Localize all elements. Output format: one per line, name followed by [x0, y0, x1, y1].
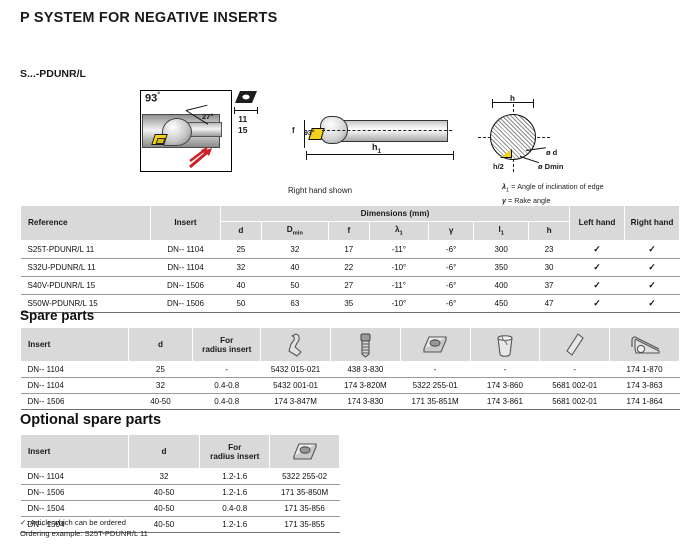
cell-shim: - — [400, 362, 470, 378]
header-dim-lambda: λ1 — [369, 222, 428, 241]
cell-part: 5322 255-02 — [270, 469, 340, 485]
clamp-icon — [261, 328, 331, 362]
cell-insert: DN-- 1506 — [151, 276, 221, 294]
cell-lambda: -11° — [369, 276, 428, 294]
f-dimension-label: f — [292, 126, 295, 135]
cell-f: 17 — [328, 240, 369, 258]
header-dimensions: Dimensions (mm) — [221, 206, 570, 222]
footnote-orderable: ✓: Article which can be ordered — [20, 517, 148, 528]
cell-lambda: -10° — [369, 294, 428, 312]
pin-icon — [540, 328, 610, 362]
feed-direction-arrow-icon — [188, 146, 218, 170]
cell-clamp: 5432 001-01 — [261, 378, 331, 394]
catalog-page: P SYSTEM FOR NEGATIVE INSERTS S...-PDUNR… — [0, 0, 700, 557]
header-for-radius-insert: For radius insert — [193, 328, 261, 362]
footnotes: ✓: Article which can be ordered Ordering… — [20, 517, 148, 539]
secondary-angle-label: 27° — [202, 112, 213, 121]
cell-insert: DN-- 1104 — [21, 362, 129, 378]
cell-radius: 1.2-1.6 — [200, 485, 270, 501]
cell-right-hand-check: ✓ — [625, 294, 680, 312]
cell-lambda: -10° — [369, 258, 428, 276]
table-row[interactable]: DN-- 1504 40-50 0.4-0.8 171 35-856 — [21, 501, 340, 517]
table-row[interactable]: DN-- 1506 40-50 0.4-0.8 174 3-847M 174 3… — [21, 394, 680, 410]
bar-angle-label: 93° — [304, 130, 315, 137]
cell-screw: 174 3-820M — [330, 378, 400, 394]
header-insert: Insert — [21, 435, 129, 469]
tool-head-shape — [162, 118, 192, 146]
insert-size-labels: 11 15 — [238, 114, 247, 136]
bar-section-circle — [490, 114, 536, 160]
header-dim-f: f — [328, 222, 369, 241]
cell-insert: DN-- 1104 — [151, 258, 221, 276]
cell-pin: 5681 002-01 — [540, 394, 610, 410]
cell-radius: - — [193, 362, 261, 378]
cell-dmin: 32 — [261, 240, 328, 258]
cell-insert: DN-- 1506 — [21, 394, 129, 410]
cell-d: 25 — [221, 240, 262, 258]
cell-h: 37 — [529, 276, 570, 294]
cell-gamma: -6° — [429, 276, 474, 294]
header-insert: Insert — [21, 328, 129, 362]
cell-shim: 5322 255-01 — [400, 378, 470, 394]
bar-cross-section-diagram: h h/2 ø d ø Dmin — [460, 94, 580, 180]
shim-icon — [270, 435, 340, 469]
table-row[interactable]: S32U-PDUNR/L 11 DN-- 1104 32 40 22 -10° … — [21, 258, 680, 276]
cell-h: 30 — [529, 258, 570, 276]
cell-reference: S25T-PDUNR/L 11 — [21, 240, 151, 258]
cell-radius: 1.2-1.6 — [200, 517, 270, 533]
footnote-ordering-example: Ordering example: S25T-PDUNR/L 11 — [20, 528, 148, 539]
table-row[interactable]: DN-- 1104 32 0.4-0.8 5432 001-01 174 3-8… — [21, 378, 680, 394]
cell-wrench: 174 1-864 — [610, 394, 680, 410]
symbol-legend: λ1 = Angle of inclination of edge γ = Ra… — [502, 182, 604, 205]
cell-wrench: 174 1-870 — [610, 362, 680, 378]
center-axis-line — [322, 130, 452, 131]
dimensions-table: Reference Insert Dimensions (mm) Left ha… — [20, 205, 680, 313]
seat-icon — [470, 328, 540, 362]
cell-insert: DN-- 1104 — [21, 378, 129, 394]
boring-bar-side-view-diagram: f 93° h1 — [292, 102, 462, 180]
tool-geometry-diagram: 93° 27° — [132, 88, 242, 176]
legend-item-gamma: γ = Rake angle — [502, 196, 604, 206]
cell-part: 171 35-850M — [270, 485, 340, 501]
cell-d: 40-50 — [128, 485, 200, 501]
cell-insert: DN-- 1506 — [21, 485, 129, 501]
cell-l1: 450 — [474, 294, 529, 312]
cell-d: 25 — [128, 362, 193, 378]
header-insert: Insert — [151, 206, 221, 241]
table-row[interactable]: S40V-PDUNR/L 15 DN-- 1506 40 50 27 -11° … — [21, 276, 680, 294]
cell-f: 22 — [328, 258, 369, 276]
length-dimension-label: h1 — [372, 142, 381, 155]
table-row[interactable]: DN-- 1506 40-50 1.2-1.6 171 35-850M — [21, 485, 340, 501]
cell-d: 50 — [221, 294, 262, 312]
cell-dmin: 40 — [261, 258, 328, 276]
lambda-text: = Angle of inclination of edge — [511, 182, 604, 191]
cell-d: 40-50 — [128, 394, 193, 410]
cell-h: 23 — [529, 240, 570, 258]
cell-left-hand-check: ✓ — [570, 294, 625, 312]
cell-l1: 350 — [474, 258, 529, 276]
table-row[interactable]: S50W-PDUNR/L 15 DN-- 1506 50 63 35 -10° … — [21, 294, 680, 312]
optional-header-row: Insert d For radius insert — [21, 435, 340, 469]
lambda-sub: 1 — [506, 187, 509, 193]
diameter-d-label: ø d — [546, 148, 557, 157]
cell-insert: DN-- 1506 — [151, 294, 221, 312]
cell-dmin: 50 — [261, 276, 328, 294]
cell-right-hand-check: ✓ — [625, 258, 680, 276]
page-title: P SYSTEM FOR NEGATIVE INSERTS — [20, 10, 277, 26]
cell-pin: - — [540, 362, 610, 378]
cell-d: 40 — [221, 276, 262, 294]
header-dim-dmin: Dmin — [261, 222, 328, 241]
cell-h: 47 — [529, 294, 570, 312]
cell-wrench: 174 3-863 — [610, 378, 680, 394]
insert-icon — [234, 90, 258, 104]
cell-shim: 171 35-851M — [400, 394, 470, 410]
header-for-radius-insert: For radius insert — [200, 435, 270, 469]
table-header-row-top: Reference Insert Dimensions (mm) Left ha… — [21, 206, 680, 222]
diagram-caption: Right hand shown — [288, 186, 352, 195]
header-dim-l1: l1 — [474, 222, 529, 241]
insert-size-indicator: 11 15 — [228, 90, 268, 150]
h-half-label: h/2 — [493, 162, 504, 171]
header-reference: Reference — [21, 206, 151, 241]
gamma-symbol: γ — [502, 196, 506, 205]
header-dim-d: d — [221, 222, 262, 241]
cell-insert: DN-- 1504 — [21, 501, 129, 517]
cell-clamp: 174 3-847M — [261, 394, 331, 410]
spare-parts-title: Spare parts — [20, 308, 94, 323]
cell-dmin: 63 — [261, 294, 328, 312]
h-dimension-label: h — [510, 94, 515, 103]
cell-left-hand-check: ✓ — [570, 240, 625, 258]
cell-insert: DN-- 1104 — [151, 240, 221, 258]
cell-radius: 0.4-0.8 — [193, 394, 261, 410]
table-row[interactable]: DN-- 1104 32 1.2-1.6 5322 255-02 — [21, 469, 340, 485]
header-left-hand: Left hand — [570, 206, 625, 241]
spare-header-row: Insert d For radius insert — [21, 328, 680, 362]
optional-spare-parts-title: Optional spare parts — [20, 412, 161, 428]
table-row[interactable]: DN-- 1104 25 - 5432 015-021 438 3-830 - … — [21, 362, 680, 378]
cell-l1: 400 — [474, 276, 529, 294]
cell-d: 32 — [128, 378, 193, 394]
table-row[interactable]: S25T-PDUNR/L 11 DN-- 1104 25 32 17 -11° … — [21, 240, 680, 258]
insert-number-top: 11 — [238, 114, 247, 125]
diameter-dmin-label: ø Dmin — [538, 162, 563, 171]
cell-pin: 5681 002-01 — [540, 378, 610, 394]
cell-radius: 1.2-1.6 — [200, 469, 270, 485]
cell-l1: 300 — [474, 240, 529, 258]
cell-radius: 0.4-0.8 — [200, 501, 270, 517]
wrench-icon — [610, 328, 680, 362]
cell-seat: 174 3-860 — [470, 378, 540, 394]
main-angle-label: 93° — [145, 92, 160, 105]
cell-gamma: -6° — [429, 258, 474, 276]
cell-d: 32 — [128, 469, 200, 485]
cell-lambda: -11° — [369, 240, 428, 258]
insert-number-bottom: 15 — [238, 125, 247, 136]
cell-right-hand-check: ✓ — [625, 276, 680, 294]
cell-f: 27 — [328, 276, 369, 294]
cell-f: 35 — [328, 294, 369, 312]
cell-seat: 174 3-861 — [470, 394, 540, 410]
cell-part: 171 35-856 — [270, 501, 340, 517]
legend-item-lambda: λ1 = Angle of inclination of edge — [502, 182, 604, 196]
cell-screw: 438 3-830 — [330, 362, 400, 378]
cell-clamp: 5432 015-021 — [261, 362, 331, 378]
screw-icon — [330, 328, 400, 362]
gamma-text: = Rake angle — [508, 196, 551, 205]
cell-left-hand-check: ✓ — [570, 258, 625, 276]
product-family-title: S...-PDUNR/L — [20, 68, 86, 80]
thickness-dimension-rule — [234, 107, 258, 114]
cell-insert: DN-- 1104 — [21, 469, 129, 485]
cell-reference: S40V-PDUNR/L 15 — [21, 276, 151, 294]
cell-radius: 0.4-0.8 — [193, 378, 261, 394]
cell-d: 40-50 — [128, 501, 200, 517]
cell-seat: - — [470, 362, 540, 378]
cell-left-hand-check: ✓ — [570, 276, 625, 294]
header-dim-h: h — [529, 222, 570, 241]
header-d: d — [128, 435, 200, 469]
header-dim-gamma: γ — [429, 222, 474, 241]
cell-right-hand-check: ✓ — [625, 240, 680, 258]
shim-icon — [400, 328, 470, 362]
header-d: d — [128, 328, 193, 362]
spare-parts-table: Insert d For radius insert — [20, 327, 680, 410]
header-right-hand: Right hand — [625, 206, 680, 241]
cell-d: 32 — [221, 258, 262, 276]
cell-gamma: -6° — [429, 294, 474, 312]
cell-gamma: -6° — [429, 240, 474, 258]
cell-screw: 174 3-830 — [330, 394, 400, 410]
dmin-leader-line — [520, 156, 539, 163]
cell-part: 171 35-855 — [270, 517, 340, 533]
cell-reference: S32U-PDUNR/L 11 — [21, 258, 151, 276]
